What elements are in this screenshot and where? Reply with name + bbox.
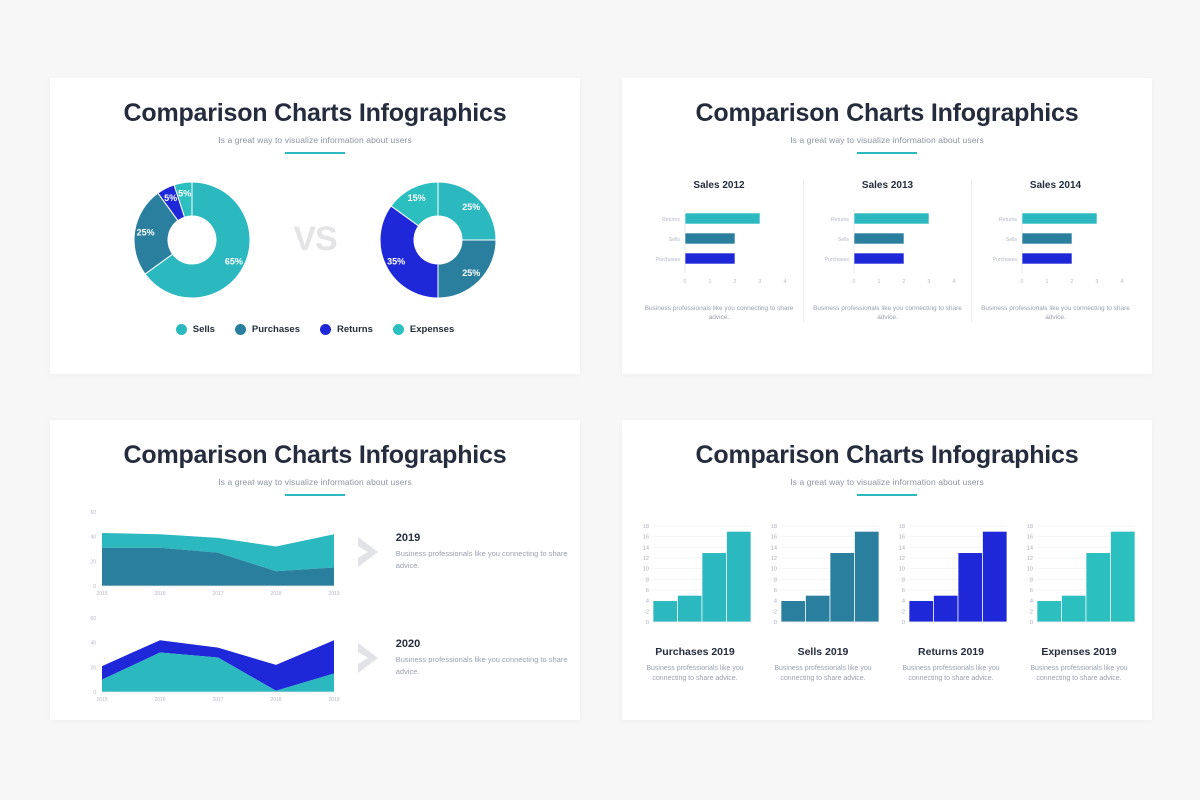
area-chart-svg: 020406020152016201720182019	[72, 608, 342, 708]
sales-bars-row: Sales 2012ReturnsSellsPurchases01234Busi…	[622, 180, 1152, 323]
x-axis-tick-label: 2	[903, 279, 906, 285]
chart-caption: Business professionals like you connecti…	[633, 664, 757, 685]
chart-caption: Business professionals like you connecti…	[1017, 664, 1141, 685]
x-axis-tick-label: 1	[878, 279, 881, 285]
y-axis-tick-label: 2	[774, 609, 777, 615]
x-axis-tick-label: 2017	[212, 591, 223, 597]
y-axis-tick-label: 6	[646, 588, 649, 594]
donut-chart-left: 65%25%5%5%	[107, 170, 277, 310]
chart-caption: Business professionals like you connecti…	[889, 664, 1013, 685]
bar-category-label: Returns	[999, 217, 1018, 223]
panel-header: Comparison Charts Infographics Is a grea…	[50, 420, 580, 496]
panel-sales-bars: Comparison Charts Infographics Is a grea…	[622, 78, 1152, 374]
y-axis-tick-label: 2	[1030, 609, 1033, 615]
y-axis-tick-label: 0	[902, 620, 905, 626]
bar-category-label: Purchases	[992, 257, 1017, 263]
x-axis-tick-label: 0	[684, 279, 687, 285]
sales-bar-chart-svg: ReturnsSellsPurchases01234	[641, 203, 797, 295]
y-axis-tick-label: 60	[90, 616, 96, 622]
area-chart-year: 2020	[396, 638, 580, 650]
page-subtitle: Is a great way to visualize information …	[622, 477, 1152, 487]
legend-color-dot-icon	[393, 324, 404, 335]
y-axis-tick-label: 12	[1027, 556, 1033, 562]
y-axis-tick-label: 8	[1030, 577, 1033, 583]
y-axis-tick-label: 40	[90, 640, 96, 646]
legend-item[interactable]: Expenses	[393, 324, 454, 335]
y-axis-tick-label: 40	[90, 534, 96, 540]
y-axis-tick-label: 10	[771, 566, 777, 572]
title-accent-rule	[285, 152, 345, 154]
area-chart-caption: Business professionals like you connecti…	[396, 548, 580, 571]
donut-slice-label: 35%	[387, 256, 405, 266]
column-chart-card: 024681012141618Returns 2019Business prof…	[889, 518, 1013, 685]
panel-donut-comparison: Comparison Charts Infographics Is a grea…	[50, 78, 580, 374]
y-axis-tick-label: 4	[774, 598, 777, 604]
donut-slice-label: 25%	[462, 201, 480, 211]
title-accent-rule	[857, 152, 917, 154]
panel-header: Comparison Charts Infographics Is a grea…	[622, 420, 1152, 496]
chart-caption: Business professionals like you connecti…	[641, 304, 797, 323]
chart-title: Sales 2012	[641, 180, 797, 191]
donut-legend: SellsPurchasesReturnsExpenses	[50, 324, 580, 335]
x-axis-tick-label: 2019	[328, 697, 339, 703]
y-axis-tick-label: 8	[774, 577, 777, 583]
y-axis-tick-label: 18	[771, 524, 777, 530]
area-chart-wrapper: 020406020152016201720182019	[50, 608, 352, 708]
y-axis-tick-label: 4	[902, 598, 905, 604]
donut-slice-label: 5%	[164, 193, 177, 203]
legend-color-dot-icon	[235, 324, 246, 335]
y-axis-tick-label: 8	[902, 577, 905, 583]
y-axis-tick-label: 12	[643, 556, 649, 562]
infographic-stage: Comparison Charts Infographics Is a grea…	[0, 0, 1200, 800]
page-subtitle: Is a great way to visualize information …	[622, 135, 1152, 145]
x-axis-tick-label: 2016	[154, 697, 165, 703]
chart-title: Sells 2019	[761, 646, 885, 658]
y-axis-tick-label: 10	[899, 566, 905, 572]
area-chart-description: 2020Business professionals like you conn…	[396, 638, 580, 677]
y-axis-tick-label: 18	[643, 524, 649, 530]
page-title: Comparison Charts Infographics	[622, 442, 1152, 470]
bar-category-label: Sells	[669, 237, 681, 243]
chart-caption: Business professionals like you connecti…	[810, 304, 965, 323]
chevron-right-icon	[356, 641, 386, 675]
sales-bar-chart-svg: ReturnsSellsPurchases01234	[978, 203, 1134, 295]
panel-column-charts: Comparison Charts Infographics Is a grea…	[622, 420, 1152, 720]
vs-label: VS	[293, 220, 336, 259]
y-axis-tick-label: 14	[1027, 545, 1033, 551]
x-axis-tick-label: 4	[1121, 279, 1124, 285]
y-axis-tick-label: 20	[90, 665, 96, 671]
column-chart-card: 024681012141618Sells 2019Business profes…	[761, 518, 885, 685]
donut-comparison-row: 65%25%5%5% VS 25%25%35%15%	[50, 170, 580, 310]
y-axis-tick-label: 6	[1030, 588, 1033, 594]
panel-header: Comparison Charts Infographics Is a grea…	[622, 78, 1152, 154]
column-charts-row: 024681012141618Purchases 2019Business pr…	[622, 518, 1152, 685]
y-axis-tick-label: 60	[90, 510, 96, 516]
legend-color-dot-icon	[320, 324, 331, 335]
x-axis-tick-label: 4	[784, 279, 787, 285]
x-axis-tick-label: 2015	[96, 697, 107, 703]
x-axis-tick-label: 2018	[270, 697, 281, 703]
bar-category-label: Sells	[1006, 237, 1018, 243]
y-axis-tick-label: 2	[646, 609, 649, 615]
y-axis-tick-label: 6	[902, 588, 905, 594]
x-axis-tick-label: 0	[853, 279, 856, 285]
y-axis-tick-label: 10	[643, 566, 649, 572]
chart-caption: Business professionals like you connecti…	[978, 304, 1133, 323]
area-chart-year: 2019	[396, 532, 580, 544]
x-axis-tick-label: 2017	[212, 697, 223, 703]
donut-slice-label: 25%	[462, 268, 480, 278]
sales-bar-chart-card: Sales 2014ReturnsSellsPurchases01234Busi…	[971, 180, 1139, 323]
y-axis-tick-label: 4	[646, 598, 649, 604]
x-axis-tick-label: 3	[759, 279, 762, 285]
y-axis-tick-label: 12	[771, 556, 777, 562]
donut-slice-label: 15%	[407, 193, 425, 203]
x-axis-tick-label: 2018	[270, 591, 281, 597]
area-chart-description: 2019Business professionals like you conn…	[396, 532, 580, 571]
chart-title: Expenses 2019	[1017, 646, 1141, 658]
legend-label: Purchases	[252, 324, 300, 335]
title-accent-rule	[285, 494, 345, 496]
page-title: Comparison Charts Infographics	[622, 100, 1152, 128]
x-axis-tick-label: 3	[928, 279, 931, 285]
donut-slice-label: 65%	[225, 256, 243, 266]
x-axis-tick-label: 4	[953, 279, 956, 285]
y-axis-tick-label: 20	[90, 559, 96, 565]
legend-item[interactable]: Purchases	[235, 324, 300, 335]
x-axis-tick-label: 3	[1096, 279, 1099, 285]
column-chart-svg: 024681012141618	[1017, 518, 1141, 638]
area-charts-host: 0204060201520162017201820192019Business …	[50, 502, 580, 708]
x-axis-tick-label: 2019	[328, 591, 339, 597]
column-chart-card: 024681012141618Purchases 2019Business pr…	[633, 518, 757, 685]
y-axis-tick-label: 8	[646, 577, 649, 583]
y-axis-tick-label: 14	[643, 545, 649, 551]
column-chart-card: 024681012141618Expenses 2019Business pro…	[1017, 518, 1141, 685]
bar-category-label: Purchases	[824, 257, 849, 263]
chart-title: Returns 2019	[889, 646, 1013, 658]
y-axis-tick-label: 12	[899, 556, 905, 562]
y-axis-tick-label: 0	[1030, 620, 1033, 626]
y-axis-tick-label: 16	[771, 534, 777, 540]
y-axis-tick-label: 14	[771, 545, 777, 551]
y-axis-tick-label: 16	[899, 534, 905, 540]
title-accent-rule	[857, 494, 917, 496]
x-axis-tick-label: 0	[1021, 279, 1024, 285]
donut-slice-label: 5%	[178, 188, 191, 198]
y-axis-tick-label: 4	[1030, 598, 1033, 604]
x-axis-tick-label: 2	[1071, 279, 1074, 285]
y-axis-tick-label: 16	[1027, 534, 1033, 540]
y-axis-tick-label: 18	[1027, 524, 1033, 530]
panel-area-charts: Comparison Charts Infographics Is a grea…	[50, 420, 580, 720]
column-chart-svg: 024681012141618	[633, 518, 757, 638]
y-axis-tick-label: 0	[646, 620, 649, 626]
legend-label: Returns	[337, 324, 373, 335]
column-chart-svg: 024681012141618	[889, 518, 1013, 638]
donut-slice-label: 25%	[137, 227, 155, 237]
chart-title: Sales 2014	[978, 180, 1133, 191]
chart-caption: Business professionals like you connecti…	[761, 664, 885, 685]
sales-bar-chart-card: Sales 2013ReturnsSellsPurchases01234Busi…	[803, 180, 971, 323]
column-chart-svg: 024681012141618	[761, 518, 885, 638]
y-axis-tick-label: 16	[643, 534, 649, 540]
legend-color-dot-icon	[176, 324, 187, 335]
panel-header: Comparison Charts Infographics Is a grea…	[50, 78, 580, 154]
y-axis-tick-label: 6	[774, 588, 777, 594]
y-axis-tick-label: 2	[902, 609, 905, 615]
y-axis-tick-label: 0	[93, 690, 96, 696]
donut-chart-right: 25%25%35%15%	[353, 170, 523, 310]
x-axis-tick-label: 2015	[96, 591, 107, 597]
legend-label: Sells	[193, 324, 215, 335]
y-axis-tick-label: 0	[93, 584, 96, 590]
area-chart-wrapper: 020406020152016201720182019	[50, 502, 352, 602]
y-axis-tick-label: 18	[899, 524, 905, 530]
x-axis-tick-label: 1	[709, 279, 712, 285]
bar-category-label: Sells	[838, 237, 850, 243]
area-chart-block: 0204060201520162017201820192019Business …	[50, 502, 580, 602]
x-axis-tick-label: 2	[734, 279, 737, 285]
legend-item[interactable]: Sells	[176, 324, 215, 335]
x-axis-tick-label: 2016	[154, 591, 165, 597]
page-title: Comparison Charts Infographics	[50, 442, 580, 470]
y-axis-tick-label: 14	[899, 545, 905, 551]
area-chart-block: 0204060201520162017201820192020Business …	[50, 608, 580, 708]
chart-title: Purchases 2019	[633, 646, 757, 658]
legend-item[interactable]: Returns	[320, 324, 373, 335]
page-subtitle: Is a great way to visualize information …	[50, 135, 580, 145]
page-subtitle: Is a great way to visualize information …	[50, 477, 580, 487]
y-axis-tick-label: 10	[1027, 566, 1033, 572]
bar-category-label: Purchases	[655, 257, 680, 263]
x-axis-tick-label: 1	[1046, 279, 1049, 285]
chevron-right-icon	[356, 535, 386, 569]
bar-category-label: Returns	[662, 217, 681, 223]
legend-label: Expenses	[410, 324, 454, 335]
y-axis-tick-label: 0	[774, 620, 777, 626]
area-chart-svg: 020406020152016201720182019	[72, 502, 342, 602]
area-chart-caption: Business professionals like you connecti…	[396, 654, 580, 677]
chart-title: Sales 2013	[810, 180, 965, 191]
page-title: Comparison Charts Infographics	[50, 100, 580, 128]
sales-bar-chart-card: Sales 2012ReturnsSellsPurchases01234Busi…	[635, 180, 803, 323]
bar-category-label: Returns	[831, 217, 850, 223]
sales-bar-chart-svg: ReturnsSellsPurchases01234	[810, 203, 966, 295]
